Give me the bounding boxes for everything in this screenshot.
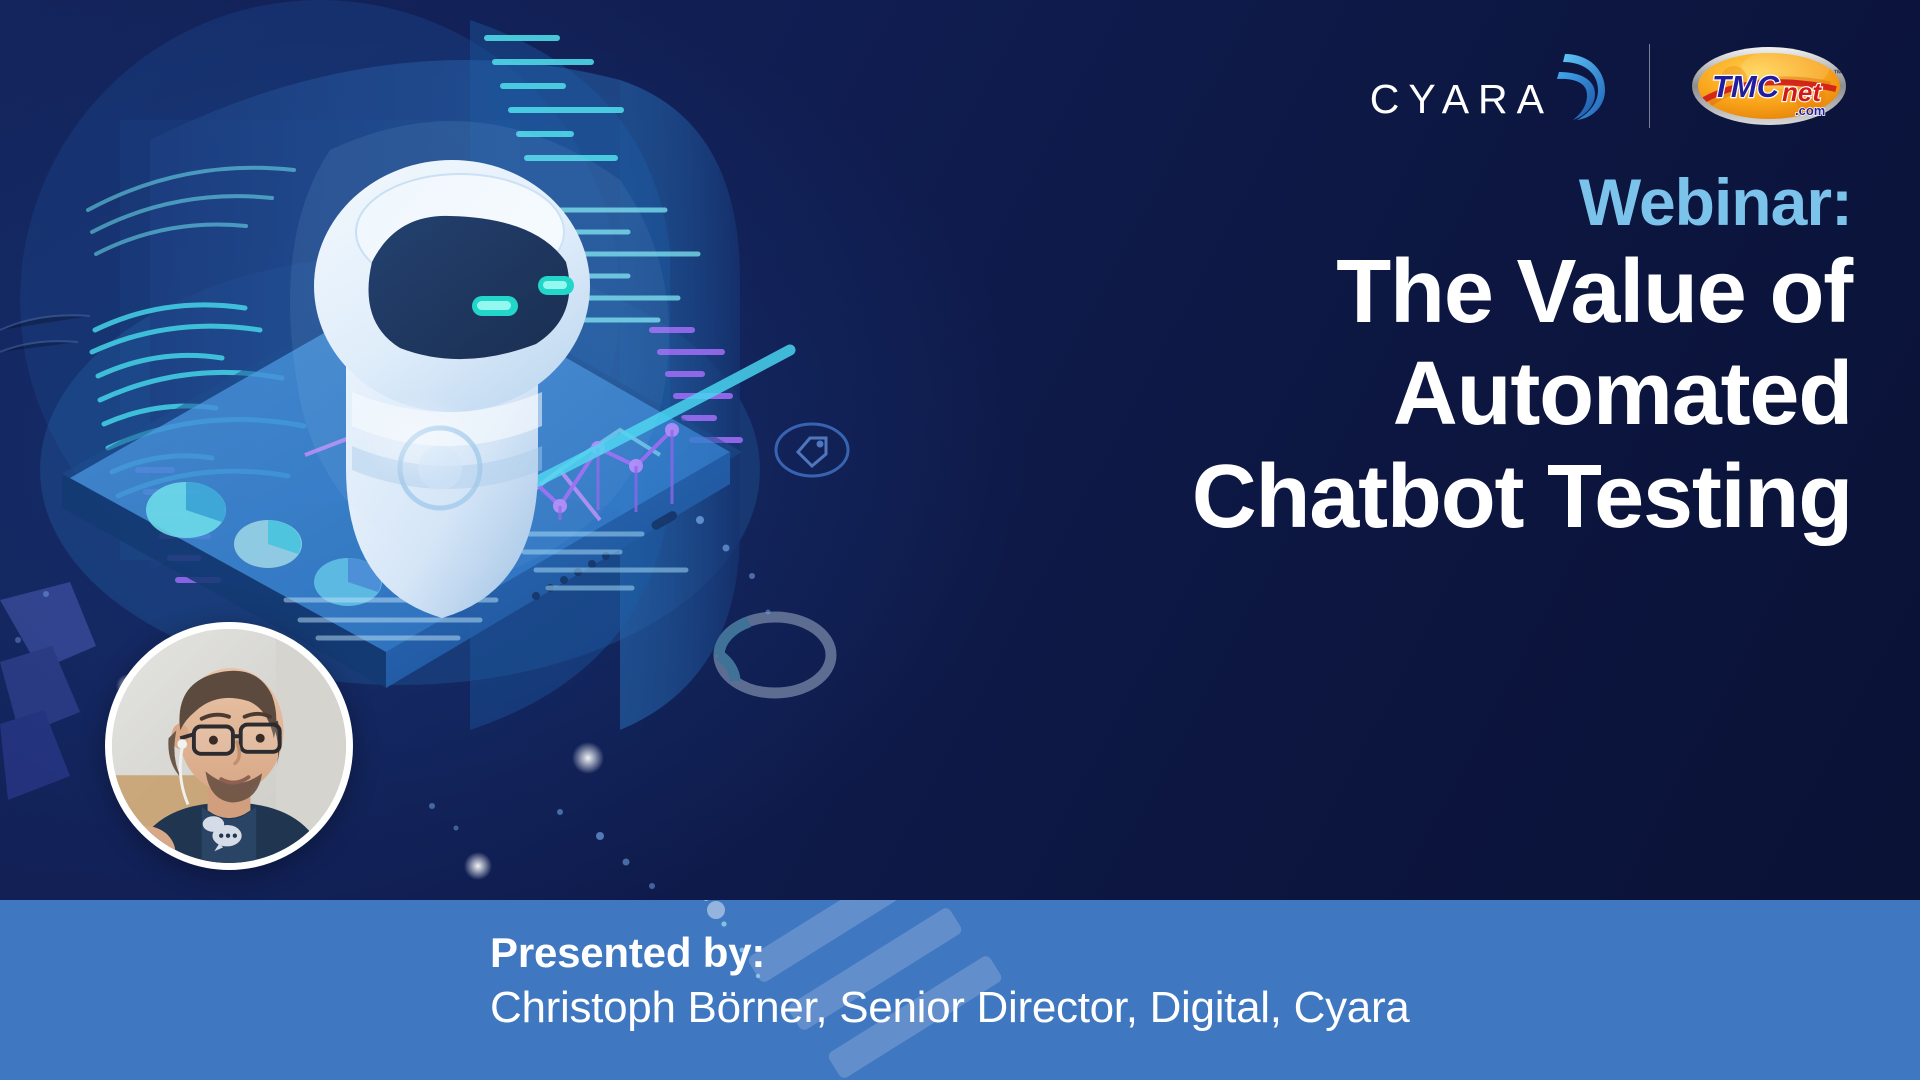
page-title: The Value of Automated Chatbot Testing — [822, 241, 1852, 549]
svg-text:TMC: TMC — [1712, 69, 1780, 104]
tmcnet-logo[interactable]: TMC net .com ™ — [1690, 45, 1848, 127]
cyara-swoosh-icon — [1557, 50, 1609, 122]
presented-by-label: Presented by: — [490, 928, 1409, 978]
avatar — [105, 622, 353, 870]
presenter-text-block: Presented by: Christoph Börner, Senior D… — [490, 928, 1409, 1034]
headline-block: Webinar: The Value of Automated Chatbot … — [822, 168, 1852, 548]
webinar-promo-banner: CYARA — [0, 0, 1920, 1080]
logo-bar: CYARA — [1370, 44, 1848, 128]
title-line-1: The Value of — [822, 241, 1852, 344]
logo-divider — [1649, 44, 1650, 128]
title-line-2: Automated — [822, 343, 1852, 446]
svg-text:.com: .com — [1795, 103, 1825, 118]
cyara-wordmark: CYARA — [1370, 79, 1553, 122]
cyara-logo[interactable]: CYARA — [1370, 50, 1609, 122]
title-line-3: Chatbot Testing — [822, 446, 1852, 549]
presenter-footer-bar: Presented by: Christoph Börner, Senior D… — [0, 900, 1920, 1080]
svg-text:™: ™ — [1833, 68, 1842, 78]
webinar-kicker: Webinar: — [822, 168, 1852, 237]
presenter-name: Christoph Börner, Senior Director, Digit… — [490, 982, 1409, 1035]
